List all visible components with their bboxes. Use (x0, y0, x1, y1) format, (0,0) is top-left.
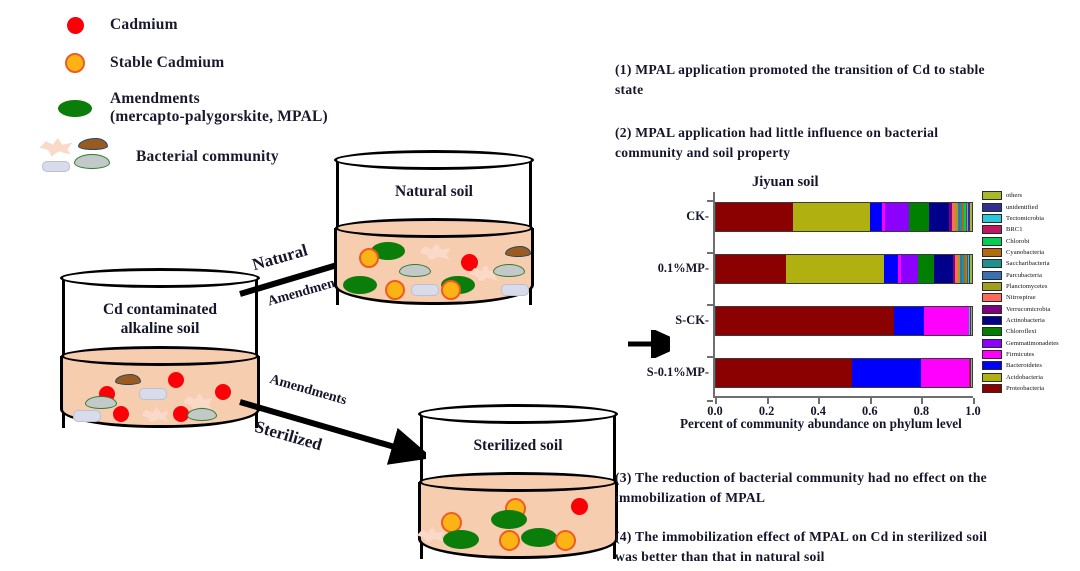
soil-surface-rim (335, 218, 533, 238)
bacteria-particle (115, 374, 141, 385)
category-label-0-1-mp: 0.1%MP- (658, 261, 709, 276)
bar-segment (909, 203, 929, 231)
legend-label: Saccharibacteria (1006, 260, 1050, 267)
green-ellipse-icon (40, 100, 110, 117)
community-abundance-chart: Jiyuan soil CK-0.1%MP-S-CK-S-0.1%MP- 0.0… (660, 176, 1080, 426)
legend-label: Acidobacteria (1006, 374, 1043, 381)
cadmium-particle (168, 372, 184, 388)
legend-swatch (982, 259, 1002, 268)
bar-segment (716, 255, 786, 283)
legend-label-amendments: Amendments (110, 90, 200, 107)
bacteria-particle (73, 410, 101, 422)
bar-segment (924, 307, 969, 335)
legend-swatch (982, 237, 1002, 246)
category-label-s-ck: S-CK- (675, 313, 709, 328)
chart-legend-item: BRC1 (982, 224, 1080, 235)
legend-swatch (982, 339, 1002, 348)
source-beaker: Cd contaminated alkaline soil (62, 278, 258, 428)
beaker-rim (60, 268, 260, 288)
chart-legend-item: Saccharibacteria (982, 258, 1080, 269)
legend-swatch (982, 282, 1002, 291)
bar-row (715, 254, 973, 284)
sterilized-soil-label: Sterilized soil (420, 436, 616, 455)
legend-label: Gemmatimonadetes (1006, 340, 1059, 347)
chart-legend-item: Gemmatimonadetes (982, 337, 1080, 348)
legend-swatch (982, 361, 1002, 370)
bar-segment (901, 255, 918, 283)
legend-label: Actinobacteria (1006, 317, 1045, 324)
bar-segment (786, 255, 884, 283)
soil-surface-rim (419, 472, 617, 492)
symbol-legend: Cadmium Stable Cadmium Amendments (merca… (40, 6, 360, 180)
red-circle-icon (40, 17, 110, 34)
legend-label: Proteobacteria (1006, 385, 1044, 392)
bar-segment (970, 255, 972, 283)
legend-label-bacterial-community: Bacterial community (136, 148, 279, 165)
chart-legend-item: Bacteroidetes (982, 360, 1080, 371)
legend-swatch (982, 373, 1002, 382)
bar-segment (970, 203, 972, 231)
bar-segment (870, 203, 883, 231)
chart-legend-item: Actinobacteria (982, 315, 1080, 326)
beaker-soil-fill (60, 356, 260, 428)
legend-label: Cyanobacteria (1006, 249, 1044, 256)
legend-swatch (982, 350, 1002, 359)
bacteria-particle (417, 526, 445, 543)
chart-legend-item: Nitrospirae (982, 292, 1080, 303)
legend-item-cadmium: Cadmium (40, 6, 360, 44)
bar-segment (894, 307, 924, 335)
legend-label: Nitrospirae (1006, 294, 1036, 301)
bacteria-cluster-icon (40, 135, 136, 179)
chart-legend-item: Chlorobi (982, 235, 1080, 246)
x-axis-title: Percent of community abundance on phylum… (680, 416, 962, 432)
chart-legend-item: Acidobacteria (982, 372, 1080, 383)
bar-segment (793, 203, 870, 231)
legend-label: Bacteroidetes (1006, 362, 1042, 369)
orange-circle-icon (40, 53, 110, 73)
stable-cadmium-particle (441, 280, 461, 300)
chart-legend-item: Cyanobacteria (982, 247, 1080, 258)
legend-label: Planctomycetes (1006, 283, 1047, 290)
bar-segment (884, 255, 898, 283)
bar-segment (918, 255, 934, 283)
statement-4: (4) The immobilization effect of MPAL on… (615, 527, 1007, 568)
amendment-particle (521, 528, 557, 547)
bar-segment (971, 307, 972, 335)
bacteria-particle (139, 388, 167, 400)
y-tick (707, 400, 713, 402)
chart-legend-item: Verrucomicrobia (982, 303, 1080, 314)
legend-item-bacterial-community: Bacterial community (40, 134, 360, 180)
sterilized-soil-beaker: Sterilized soil (420, 414, 616, 559)
chart-legend-item: Parcubacteria (982, 269, 1080, 280)
legend-swatch (982, 384, 1002, 393)
legend-label-cadmium: Cadmium (110, 16, 178, 33)
bar-segment (929, 203, 949, 231)
cadmium-particle (215, 384, 231, 400)
chart-legend: othersunidentifiedTectomicrobiaBRC1Chlor… (982, 190, 1080, 394)
legend-swatch (982, 225, 1002, 234)
legend-item-stable-cadmium: Stable Cadmium (40, 44, 360, 82)
soil-surface-rim (61, 346, 259, 366)
chart-plot-area (713, 192, 973, 398)
beaker-soil-fill (418, 482, 618, 559)
chart-legend-item: Proteobacteria (982, 383, 1080, 394)
bar-segment (716, 203, 793, 231)
natural-soil-beaker: Natural soil (336, 160, 532, 305)
amendment-particle (443, 530, 479, 549)
bacteria-particle (399, 264, 431, 277)
legend-label: Tectomicrobia (1006, 215, 1044, 222)
x-tick-label: 1.0 (965, 404, 981, 419)
bar-segment (716, 359, 852, 387)
legend-swatch (982, 248, 1002, 257)
y-tick (707, 200, 713, 202)
legend-item-amendments: Amendments (mercapto-palygorskite, MPAL) (40, 82, 360, 134)
legend-swatch (982, 203, 1002, 212)
bar-row (715, 202, 973, 232)
natural-soil-label: Natural soil (336, 182, 532, 201)
chart-legend-item: Chloroflexi (982, 326, 1080, 337)
source-beaker-label: Cd contaminated alkaline soil (62, 300, 258, 339)
cadmium-particle (571, 498, 588, 515)
amendment-particle (491, 510, 527, 529)
stable-cadmium-particle (555, 530, 576, 551)
bar-row (715, 306, 973, 336)
legend-swatch (982, 293, 1002, 302)
bacteria-particle (141, 406, 169, 423)
bar-row (715, 358, 973, 388)
cadmium-particle (113, 406, 129, 422)
bar-segment (971, 359, 972, 387)
statement-2: (2) MPAL application had little influenc… (615, 123, 990, 164)
legend-swatch (982, 316, 1002, 325)
beaker-rim (418, 404, 618, 424)
bar-segment (716, 307, 894, 335)
chart-legend-item: unidentified (982, 201, 1080, 212)
bacteria-particle (493, 264, 525, 277)
legend-swatch (982, 214, 1002, 223)
bacteria-particle (419, 242, 451, 261)
bar-segment (885, 203, 909, 231)
chart-title: Jiyuan soil (752, 174, 818, 191)
legend-swatch (982, 191, 1002, 200)
statement-1: (1) MPAL application promoted the transi… (615, 60, 990, 101)
legend-label: others (1006, 192, 1022, 199)
legend-label: BRC1 (1006, 226, 1023, 233)
beaker-soil-fill (334, 228, 534, 305)
y-tick (707, 356, 713, 358)
bacteria-particle (501, 284, 529, 296)
bacteria-particle (187, 408, 217, 421)
legend-swatch (982, 327, 1002, 336)
legend-label: Verrucomicrobia (1006, 306, 1050, 313)
stable-cadmium-particle (499, 530, 520, 551)
chart-legend-item: Tectomicrobia (982, 213, 1080, 224)
chart-legend-item: others (982, 190, 1080, 201)
amendment-particle (343, 276, 377, 294)
bacteria-particle (505, 246, 531, 257)
bar-segment (934, 255, 953, 283)
category-label-s-0-1-mp: S-0.1%MP- (647, 365, 709, 380)
legend-swatch (982, 271, 1002, 280)
legend-label: Chlorobi (1006, 238, 1029, 245)
legend-label: Firmicutes (1006, 351, 1034, 358)
legend-label: Chloroflexi (1006, 328, 1036, 335)
bar-segment (852, 359, 921, 387)
cadmium-particle (461, 254, 478, 271)
legend-label-stable-cadmium: Stable Cadmium (110, 54, 224, 71)
stable-cadmium-particle (385, 280, 405, 300)
legend-sublabel-amendments: (mercapto-palygorskite, MPAL) (110, 108, 328, 126)
legend-label: unidentified (1006, 204, 1038, 211)
chart-legend-item: Planctomycetes (982, 281, 1080, 292)
legend-label: Parcubacteria (1006, 272, 1042, 279)
category-label-ck: CK- (686, 209, 709, 224)
bacteria-particle (85, 396, 117, 409)
bacteria-particle (411, 284, 439, 296)
statement-3: (3) The reduction of bacterial community… (615, 468, 1007, 509)
beaker-rim (334, 150, 534, 170)
bar-segment (921, 359, 970, 387)
stable-cadmium-particle (359, 248, 379, 268)
x-axis (713, 396, 973, 398)
chart-legend-item: Firmicutes (982, 349, 1080, 360)
legend-swatch (982, 305, 1002, 314)
y-tick (707, 304, 713, 306)
y-tick (707, 252, 713, 254)
